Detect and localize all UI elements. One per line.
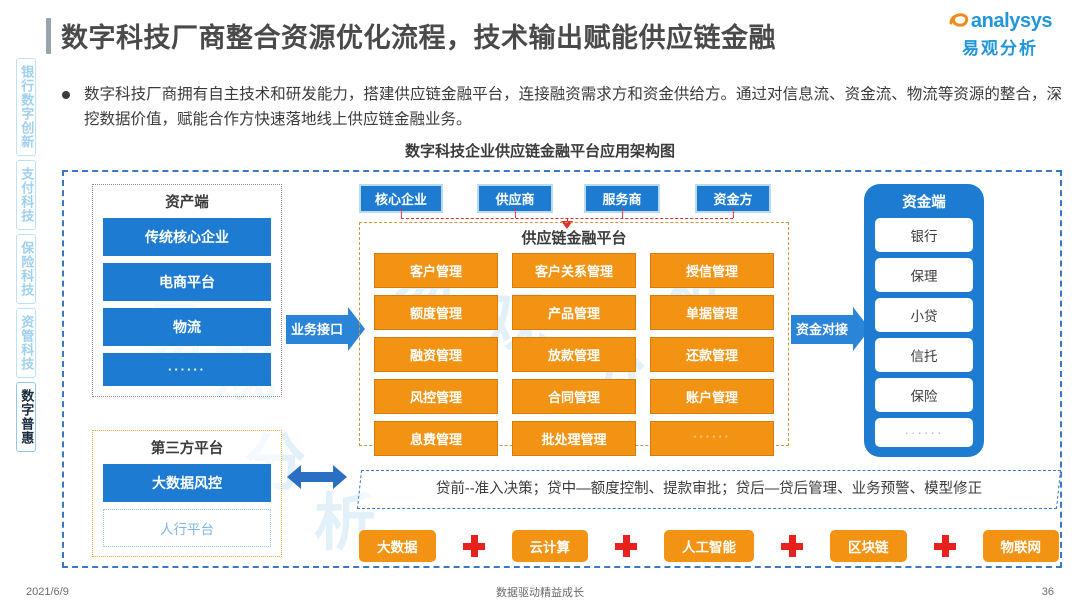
connector-line (622, 208, 623, 218)
sidebar-item-payment[interactable]: 支付科技 (16, 160, 37, 230)
plus-icon (781, 535, 803, 557)
module-repayment-mgmt[interactable]: 还款管理 (650, 337, 774, 372)
module-interest-fee-mgmt[interactable]: 息费管理 (374, 421, 498, 456)
footer-date: 2021/6/9 (26, 586, 69, 598)
fund-row-factoring[interactable]: 保理 (875, 258, 973, 292)
chip-ai[interactable]: 人工智能 (664, 530, 754, 562)
chip-big-data[interactable]: 大数据 (359, 530, 436, 562)
fund-docking-label: 资金对接 (791, 315, 853, 344)
business-interface-arrow: 业务接口 (286, 307, 365, 351)
footer-slogan: 数据驱动精益成长 (0, 584, 1080, 600)
connector-line (733, 208, 734, 218)
asset-side-title: 资产端 (103, 191, 271, 212)
asset-row-logistics[interactable]: 物流 (103, 308, 271, 346)
module-crm[interactable]: 客户关系管理 (512, 253, 636, 288)
module-financing-mgmt[interactable]: 融资管理 (374, 337, 498, 372)
fund-row-microloan[interactable]: 小贷 (875, 298, 973, 332)
fund-side-title: 资金端 (875, 191, 973, 212)
sidebar-item-asset-mgmt[interactable]: 资管科技 (16, 308, 37, 378)
business-interface-label: 业务接口 (286, 315, 348, 344)
footer-page-number: 36 (1042, 586, 1054, 598)
third-party-box: 第三方平台 大数据风控 人行平台 (92, 430, 282, 557)
bullet-text: 数字科技厂商拥有自主技术和研发能力，搭建供应链金融平台，连接融资需求方和资金供给… (84, 82, 1062, 132)
third-party-bigdata-risk[interactable]: 大数据风控 (103, 464, 271, 502)
page-title: 数字科技厂商整合资源优化流程，技术输出赋能供应链金融 (46, 16, 776, 55)
fund-side-box: 资金端 银行 保理 小贷 信托 保险 ······ (864, 184, 984, 457)
plus-icon (615, 535, 637, 557)
module-product-mgmt[interactable]: 产品管理 (512, 295, 636, 330)
fund-row-bank[interactable]: 银行 (875, 218, 973, 252)
connector-line (515, 208, 516, 218)
asset-row-more[interactable]: ······ (103, 353, 271, 386)
asset-side-box: 资产端 传统核心企业 电商平台 物流 ······ (92, 184, 282, 397)
fund-row-insurance[interactable]: 保险 (875, 378, 973, 412)
logo-wordmark: analysys (971, 11, 1052, 31)
module-more[interactable]: ······ (650, 421, 774, 456)
page-title-text: 数字科技厂商整合资源优化流程，技术输出赋能供应链金融 (61, 16, 776, 55)
loan-lifecycle-note: 贷前--准入决策；贷中—额度控制、提款审批；贷后—贷后管理、业务预警、模型修正 (357, 470, 1061, 509)
scf-platform-box: 供应链金融平台 客户管理 客户关系管理 授信管理 额度管理 产品管理 单据管理 … (359, 222, 789, 446)
third-party-title: 第三方平台 (103, 437, 271, 458)
module-contract-mgmt[interactable]: 合同管理 (512, 379, 636, 414)
module-quota-mgmt[interactable]: 额度管理 (374, 295, 498, 330)
logo-chinese-name: 易观分析 (940, 34, 1060, 59)
footer: 2021/6/9 数据驱动精益成长 36 (0, 584, 1080, 600)
third-party-pboc-platform[interactable]: 人行平台 (103, 509, 271, 547)
bullet-paragraph: 数字科技厂商拥有自主技术和研发能力，搭建供应链金融平台，连接融资需求方和资金供给… (62, 82, 1062, 132)
fund-row-more[interactable]: ······ (875, 418, 973, 447)
logo-swoosh-icon (948, 10, 970, 32)
participant-tags: 核心企业 供应商 服务商 资金方 (359, 184, 789, 208)
module-account-mgmt[interactable]: 账户管理 (650, 379, 774, 414)
fund-row-trust[interactable]: 信托 (875, 338, 973, 372)
module-customer-mgmt[interactable]: 客户管理 (374, 253, 498, 288)
module-credit-grant[interactable]: 授信管理 (650, 253, 774, 288)
technology-stack-row: 大数据 云计算 人工智能 区块链 物联网 (359, 530, 1059, 562)
fund-docking-arrow: 资金对接 (791, 307, 870, 351)
asset-row-core-enterprise[interactable]: 传统核心企业 (103, 218, 271, 256)
chip-blockchain[interactable]: 区块链 (830, 530, 907, 562)
plus-icon (934, 535, 956, 557)
scf-module-grid: 客户管理 客户关系管理 授信管理 额度管理 产品管理 单据管理 融资管理 放款管… (360, 253, 788, 456)
bidirectional-arrow-icon (287, 462, 347, 492)
asset-row-ecommerce[interactable]: 电商平台 (103, 263, 271, 301)
architecture-diagram: 易 观 易 观 分 析 分 析 资产端 传统核心企业 电商平台 物流 ·····… (62, 170, 1062, 568)
sidebar: 银行数字创新 支付科技 保险科技 资管科技 数字普惠 (8, 58, 44, 452)
title-accent-bar (46, 18, 51, 54)
module-batch-process-mgmt[interactable]: 批处理管理 (512, 421, 636, 456)
sidebar-item-digital-inclusive[interactable]: 数字普惠 (16, 382, 37, 452)
module-disbursement-mgmt[interactable]: 放款管理 (512, 337, 636, 372)
chip-cloud[interactable]: 云计算 (512, 530, 589, 562)
connector-line (401, 208, 402, 218)
analysys-logo: analysys 易观分析 (940, 10, 1060, 59)
plus-icon (463, 535, 485, 557)
module-document-mgmt[interactable]: 单据管理 (650, 295, 774, 330)
sidebar-item-insurance[interactable]: 保险科技 (16, 234, 37, 304)
loan-lifecycle-text: 贷前--准入决策；贷中—额度控制、提款审批；贷后—贷后管理、业务预警、模型修正 (376, 479, 1042, 500)
bullet-dot-icon (62, 91, 70, 99)
scf-platform-title: 供应链金融平台 (360, 227, 788, 248)
chart-subtitle: 数字科技企业供应链金融平台应用架构图 (0, 140, 1080, 161)
module-risk-control-mgmt[interactable]: 风控管理 (374, 379, 498, 414)
chip-iot[interactable]: 物联网 (983, 530, 1060, 562)
